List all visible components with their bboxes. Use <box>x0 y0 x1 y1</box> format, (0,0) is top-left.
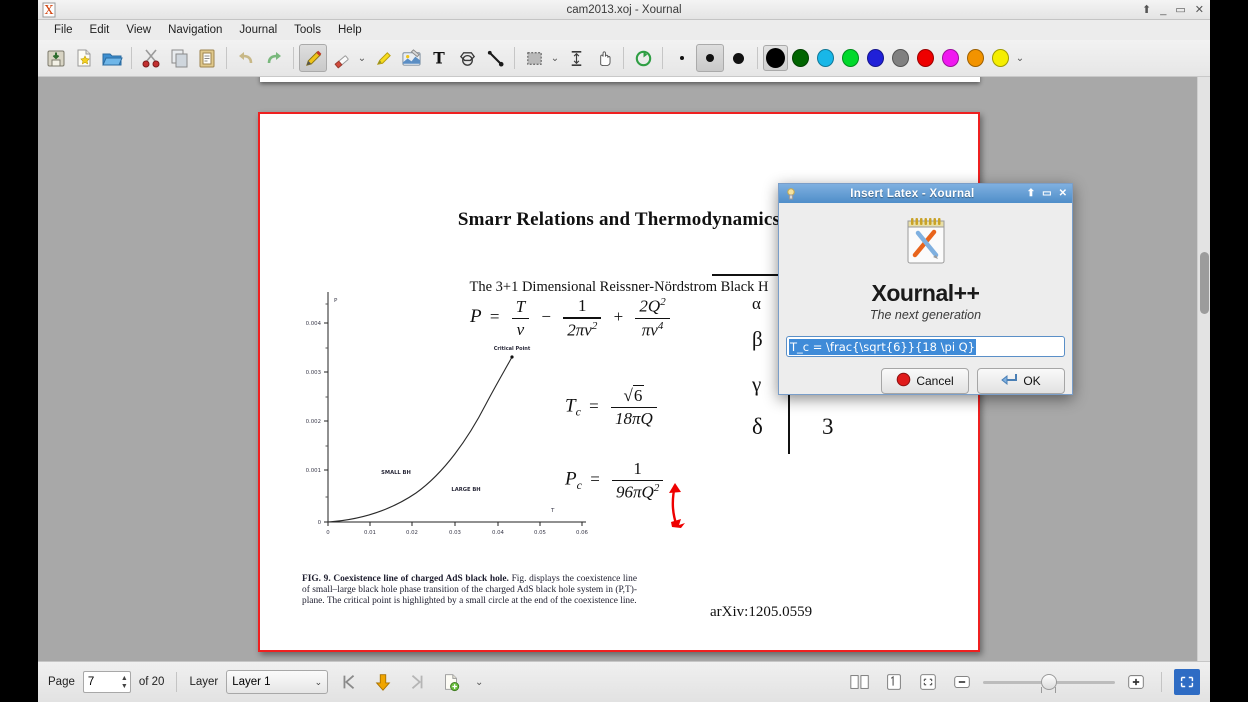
zoom-slider-tick <box>1041 687 1042 693</box>
menu-help[interactable]: Help <box>330 22 370 38</box>
svg-text:0.002: 0.002 <box>306 419 321 425</box>
zoom-slider-tick <box>1055 687 1056 693</box>
coexistence-curve <box>328 357 512 522</box>
handwriting-alpha: α <box>752 294 761 314</box>
color-swatch <box>917 49 934 67</box>
latex-input[interactable]: T_c = \frac{\sqrt{6}}{18 \pi Q} <box>786 336 1065 357</box>
svg-text:SMALL BH: SMALL BH <box>381 470 411 476</box>
handwriting-value-delta: 3 <box>822 414 834 440</box>
xournal-window: X cam2013.xoj - Xournal ⬆ _ ▭ ✕ File Edi… <box>38 0 1210 702</box>
svg-text:0.06: 0.06 <box>576 530 589 536</box>
color-swatch <box>842 49 859 67</box>
one-page-view-button[interactable] <box>881 669 907 695</box>
vertical-scrollbar[interactable] <box>1197 77 1210 661</box>
page-spinner-down-icon: ▼ <box>121 683 128 690</box>
chart-ylabel: P <box>334 298 338 304</box>
letterbox-left <box>0 0 38 702</box>
copy-button[interactable] <box>165 44 193 72</box>
statusbar-separator <box>176 672 177 692</box>
svg-text:0.003: 0.003 <box>306 370 321 376</box>
fullscreen-button[interactable] <box>1174 669 1200 695</box>
dialog-title: Insert Latex - Xournal <box>798 188 1027 200</box>
color-swatch <box>817 49 834 67</box>
insert-latex-dialog[interactable]: Insert Latex - Xournal ⬆ ▭ ✕ <box>778 183 1073 395</box>
svg-text:0.001: 0.001 <box>306 468 321 474</box>
handwriting-gamma: γ <box>752 372 761 397</box>
svg-text:LARGE BH: LARGE BH <box>451 487 480 493</box>
color-swatch <box>942 49 959 67</box>
figure-caption: FIG. 9. Coexistence line of charged AdS … <box>302 574 637 608</box>
vertical-space-tool[interactable] <box>562 44 590 72</box>
paste-button[interactable] <box>193 44 221 72</box>
color-swatch <box>792 49 809 67</box>
first-page-button[interactable] <box>336 669 362 695</box>
arxiv-reference: arXiv:1205.0559 <box>710 604 812 621</box>
main-toolbar: ⌄ T <box>38 40 1210 77</box>
thickness-thin-button[interactable] <box>668 44 696 72</box>
toolbar-separator <box>757 47 758 69</box>
svg-text:0.004: 0.004 <box>306 321 322 327</box>
color-swatch <box>967 49 984 67</box>
page-spinner-up-icon: ▲ <box>121 675 128 682</box>
rotation-snap-tool[interactable] <box>629 44 657 72</box>
pen-options-chevron-down-icon[interactable]: ⌄ <box>355 53 369 64</box>
toolbar-separator <box>662 47 663 69</box>
color-green[interactable] <box>838 45 863 71</box>
pen-tool[interactable] <box>299 44 327 72</box>
menu-edit[interactable]: Edit <box>82 22 118 38</box>
handwriting-delta: δ <box>752 414 763 440</box>
menubar: File Edit View Navigation Journal Tools … <box>38 20 1210 40</box>
color-red[interactable] <box>913 45 938 71</box>
coexistence-line-chart: 0 0.001 0.002 0.003 0.004 0 <box>288 284 593 549</box>
ok-button[interactable]: OK <box>977 368 1065 394</box>
open-button[interactable] <box>98 44 126 72</box>
layer-label: Layer <box>189 676 218 688</box>
page-total-label: of 20 <box>139 676 165 688</box>
layer-select-value: Layer 1 <box>232 676 270 688</box>
save-button[interactable] <box>42 44 70 72</box>
undo-button[interactable] <box>232 44 260 72</box>
handwriting-beta: β <box>752 327 763 352</box>
window-title: cam2013.xoj - Xournal <box>38 4 1210 16</box>
two-page-view-button[interactable] <box>847 669 873 695</box>
svg-text:0: 0 <box>318 520 322 526</box>
color-gray[interactable] <box>888 45 913 71</box>
svg-text:0: 0 <box>326 530 330 536</box>
dialog-close-button[interactable]: ✕ <box>1059 188 1067 199</box>
menu-file[interactable]: File <box>46 22 81 38</box>
shade-button[interactable]: ⬆ <box>1142 5 1151 16</box>
color-more-chevron-down-icon[interactable]: ⌄ <box>1013 53 1027 64</box>
color-magenta[interactable] <box>938 45 963 71</box>
svg-text:0.05: 0.05 <box>534 530 546 536</box>
toolbar-separator <box>293 47 294 69</box>
svg-text:0.03: 0.03 <box>449 530 461 536</box>
menu-view[interactable]: View <box>118 22 159 38</box>
fit-page-button[interactable] <box>915 669 941 695</box>
thickness-medium-button[interactable] <box>696 44 724 72</box>
select-options-chevron-down-icon[interactable]: ⌄ <box>548 53 562 64</box>
color-swatch <box>766 48 785 68</box>
svg-text:0.01: 0.01 <box>364 530 376 536</box>
page-spinner-arrows[interactable]: ▲ ▼ <box>121 672 128 692</box>
zoom-out-button[interactable] <box>949 669 975 695</box>
chevron-down-icon: ⌄ <box>315 677 323 688</box>
xournal-app-icon: X <box>41 2 57 18</box>
dialog-buttons: Cancel OK <box>786 368 1065 394</box>
page-menu-chevron-down-icon[interactable]: ⌄ <box>472 677 486 688</box>
color-cyan[interactable] <box>813 45 838 71</box>
select-region-tool[interactable] <box>520 44 548 72</box>
window-titlebar: X cam2013.xoj - Xournal ⬆ _ ▭ ✕ <box>38 0 1210 20</box>
new-page-button[interactable] <box>438 669 464 695</box>
cancel-button[interactable]: Cancel <box>881 368 969 394</box>
toolbar-separator <box>623 47 624 69</box>
minimize-button[interactable]: _ <box>1160 5 1166 16</box>
dialog-shade-button[interactable]: ⬆ <box>1027 188 1035 199</box>
color-swatch <box>867 49 884 67</box>
menu-journal[interactable]: Journal <box>231 22 285 38</box>
ok-label: OK <box>1023 374 1040 388</box>
statusbar-separator <box>1161 672 1162 692</box>
menu-tools[interactable]: Tools <box>286 22 329 38</box>
cancel-label: Cancel <box>916 374 953 388</box>
dialog-body: Xournal++ The next generation T_c = \fra… <box>779 203 1072 402</box>
dialog-titlebar: Insert Latex - Xournal ⬆ ▭ ✕ <box>779 184 1072 203</box>
zoom-slider[interactable] <box>983 671 1115 693</box>
toolbar-separator <box>226 47 227 69</box>
text-tool[interactable]: T <box>425 44 453 72</box>
hand-tool[interactable] <box>590 44 618 72</box>
letterbox-right <box>1210 0 1248 702</box>
page-number-input[interactable]: 7 ▲ ▼ <box>83 671 131 693</box>
enter-key-icon <box>1001 372 1018 390</box>
color-swatch <box>892 49 909 67</box>
color-blue[interactable] <box>863 45 888 71</box>
color-dark-green[interactable] <box>788 45 813 71</box>
dialog-icon <box>784 187 798 201</box>
zoom-in-button[interactable] <box>1123 669 1149 695</box>
vertical-scrollbar-thumb[interactable] <box>1200 252 1209 314</box>
redo-button[interactable] <box>260 44 288 72</box>
maximize-button[interactable]: ▭ <box>1175 5 1185 16</box>
menu-navigation[interactable]: Navigation <box>160 22 230 38</box>
dialog-tagline: The next generation <box>870 308 981 322</box>
close-button[interactable]: ✕ <box>1195 5 1204 16</box>
figure-caption-bold: FIG. 9. Coexistence line of charged AdS … <box>302 574 509 584</box>
last-page-button[interactable] <box>404 669 430 695</box>
svg-text:Critical Point: Critical Point <box>494 346 531 352</box>
critical-point-marker <box>510 355 513 358</box>
latex-tool[interactable] <box>397 44 425 72</box>
toolbar-separator <box>514 47 515 69</box>
new-button[interactable] <box>70 44 98 72</box>
svg-text:0.02: 0.02 <box>406 530 418 536</box>
color-orange[interactable] <box>963 45 988 71</box>
current-page-marker[interactable] <box>370 669 396 695</box>
layer-select[interactable]: Layer 1 ⌄ <box>226 670 328 694</box>
color-yellow[interactable] <box>988 45 1013 71</box>
latex-input-value: T_c = \frac{\sqrt{6}}{18 \pi Q} <box>789 339 976 355</box>
color-black[interactable] <box>763 45 788 71</box>
svg-text:0.04: 0.04 <box>492 530 505 536</box>
cancel-icon <box>896 372 911 390</box>
previous-page-sliver[interactable] <box>260 77 980 82</box>
statusbar: Page 7 ▲ ▼ of 20 Layer Layer 1 ⌄ <box>38 661 1210 702</box>
dialog-maximize-button[interactable]: ▭ <box>1042 188 1051 199</box>
handwriting-red-arrow <box>655 469 703 531</box>
chart-xlabel: T <box>550 508 555 514</box>
thickness-thick-button[interactable] <box>724 44 752 72</box>
xournal-notebook-icon <box>902 215 950 270</box>
highlighter-tool[interactable] <box>369 44 397 72</box>
shape-tool[interactable] <box>453 44 481 72</box>
svg-text:X: X <box>45 3 54 17</box>
color-swatch <box>992 49 1009 67</box>
page-label: Page <box>48 676 75 688</box>
page-number-value: 7 <box>88 676 94 688</box>
svg-text:T: T <box>433 48 445 67</box>
toolbar-separator <box>131 47 132 69</box>
eraser-tool[interactable] <box>327 44 355 72</box>
line-tool[interactable] <box>481 44 509 72</box>
cut-button[interactable] <box>137 44 165 72</box>
dialog-app-name: Xournal++ <box>872 280 980 307</box>
